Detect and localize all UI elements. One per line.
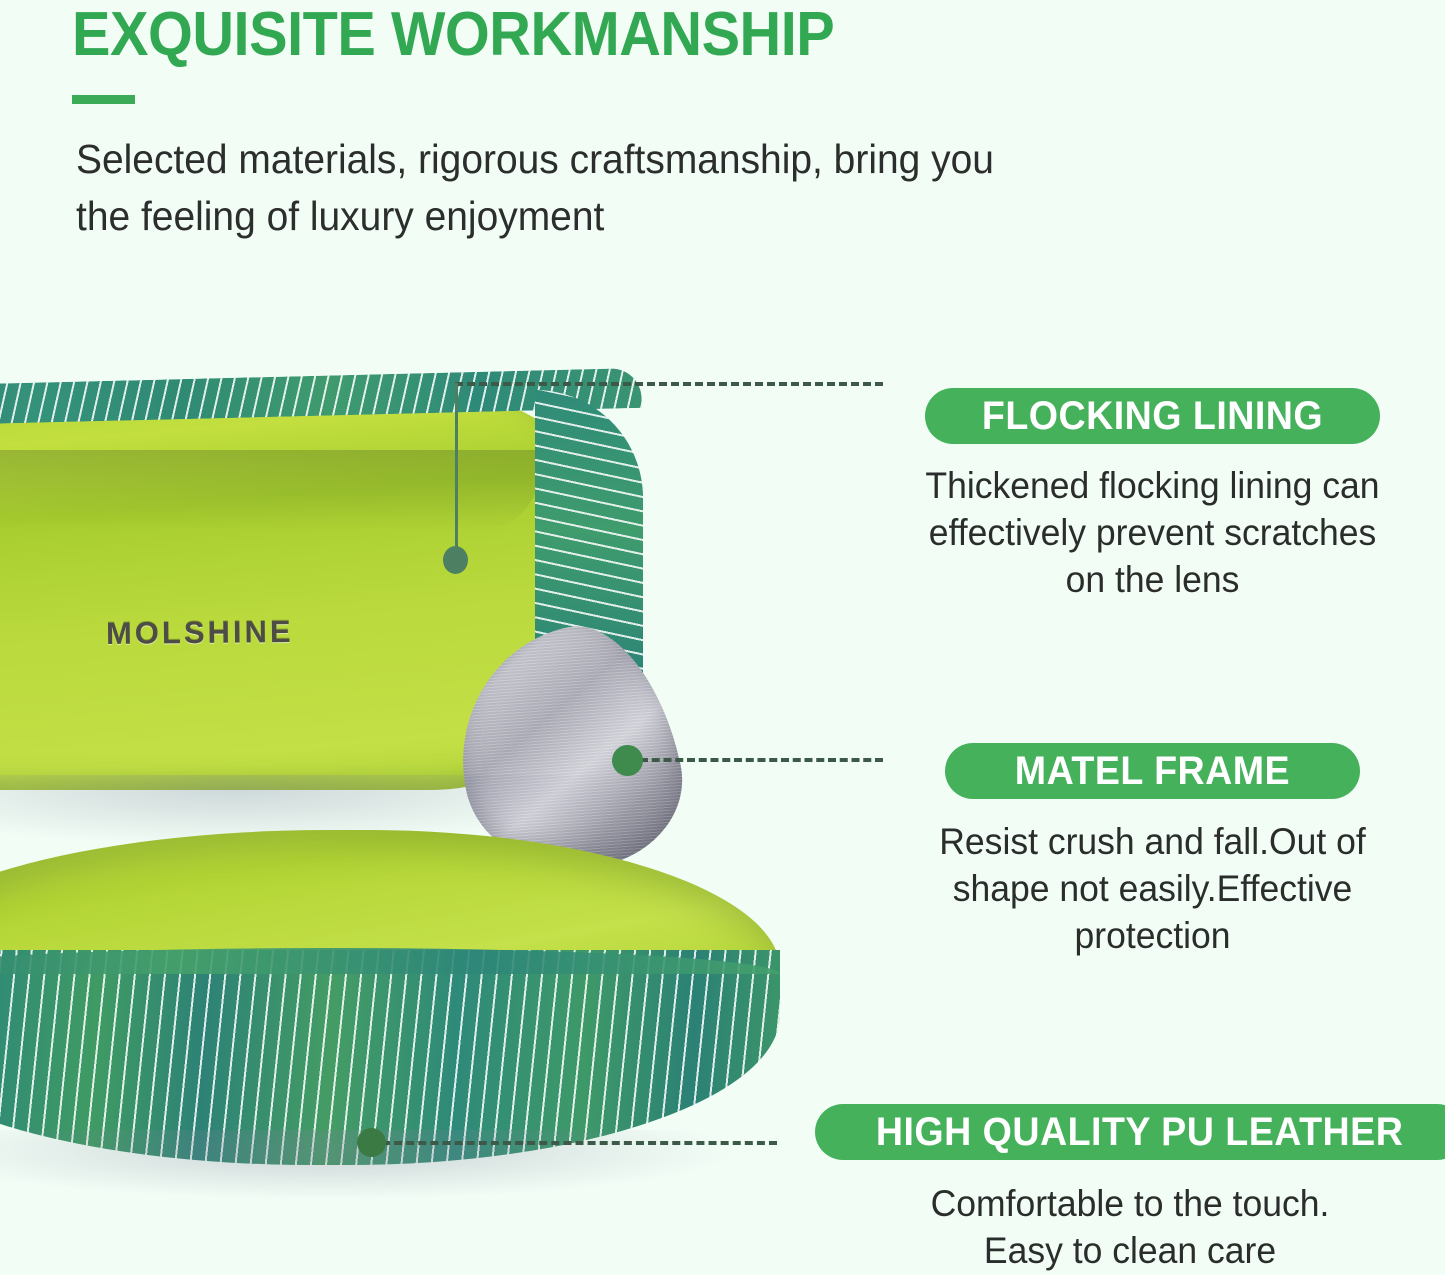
callout-badge-label-1: FLOCKING LINING: [982, 394, 1323, 439]
case-base: [0, 830, 780, 1160]
callout-description-2: Resist crush and fall.Out of shape not e…: [880, 818, 1425, 959]
callout-2-line-1: Resist crush and fall.Out of: [891, 818, 1414, 865]
lid-inner-shadow: [0, 450, 540, 530]
callout-marker-dot-2: [612, 745, 643, 776]
leader-line-3-horizontal: [382, 1141, 777, 1145]
brand-logo: MOLSHINE: [106, 614, 294, 652]
callout-2-line-2: shape not easily.Effective: [891, 865, 1414, 912]
callout-2-line-3: protection: [891, 912, 1414, 959]
callout-1-line-1: Thickened flocking lining can: [891, 462, 1414, 509]
product-photo: MOLSHINE: [0, 360, 840, 1240]
subtitle-line-2: the feeling of luxury enjoyment: [76, 188, 1283, 245]
callout-1-line-3: on the lens: [891, 556, 1414, 603]
callout-marker-dot-3: [357, 1128, 386, 1157]
leader-line-1-vertical: [455, 383, 458, 549]
callout-3-line-1: Comfortable to the touch.: [842, 1180, 1418, 1227]
callout-description-1: Thickened flocking lining can effectivel…: [880, 462, 1425, 603]
callout-badge-label-3: HIGH QUALITY PU LEATHER: [876, 1110, 1403, 1155]
leader-line-1-horizontal: [455, 382, 883, 386]
title-accent-bar: [72, 95, 135, 104]
subtitle-line-1: Selected materials, rigorous craftsmansh…: [76, 131, 1283, 188]
callout-3-line-2: Easy to clean care: [842, 1227, 1418, 1274]
leader-line-2-horizontal: [640, 758, 883, 762]
callout-description-3: Comfortable to the touch. Easy to clean …: [830, 1180, 1430, 1274]
page-subtitle: Selected materials, rigorous craftsmansh…: [76, 131, 1283, 245]
callout-1-line-2: effectively prevent scratches: [891, 509, 1414, 556]
callout-marker-dot-1: [443, 546, 468, 574]
callout-badge-label-2: MATEL FRAME: [1015, 749, 1290, 794]
callout-badge-pu-leather: HIGH QUALITY PU LEATHER: [815, 1104, 1445, 1160]
page-title: EXQUISITE WORKMANSHIP: [72, 0, 834, 72]
callout-badge-flocking-lining: FLOCKING LINING: [925, 388, 1380, 444]
infographic-canvas: EXQUISITE WORKMANSHIP Selected materials…: [0, 0, 1445, 1275]
callout-badge-matel-frame: MATEL FRAME: [945, 743, 1360, 799]
